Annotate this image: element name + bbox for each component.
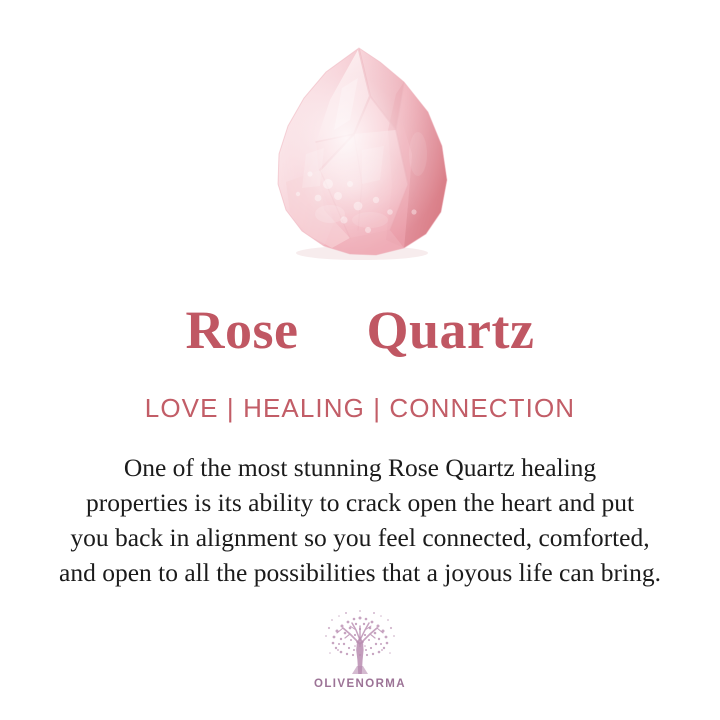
brand-logo: OLIVENORMA [0,608,720,690]
rose-quartz-crystal-image [258,34,468,266]
keyword-subtitle: LOVE | HEALING | CONNECTION [0,392,720,424]
description-line: you back in alignment so you feel connec… [22,520,698,555]
hero-image-container [0,0,720,280]
description-line: One of the most stunning Rose Quartz hea… [22,450,698,485]
description-line: and open to all the possibilities that a… [22,555,698,590]
rose-quartz-info-card: Rose Quartz LOVE | HEALING | CONNECTION … [0,0,720,720]
description-line: properties is its ability to crack open … [22,485,698,520]
tree-logo-icon [312,608,408,676]
description-paragraph: One of the most stunning Rose Quartz hea… [22,450,698,590]
page-title: Rose Quartz [0,299,720,361]
brand-wordmark: OLIVENORMA [0,678,720,690]
